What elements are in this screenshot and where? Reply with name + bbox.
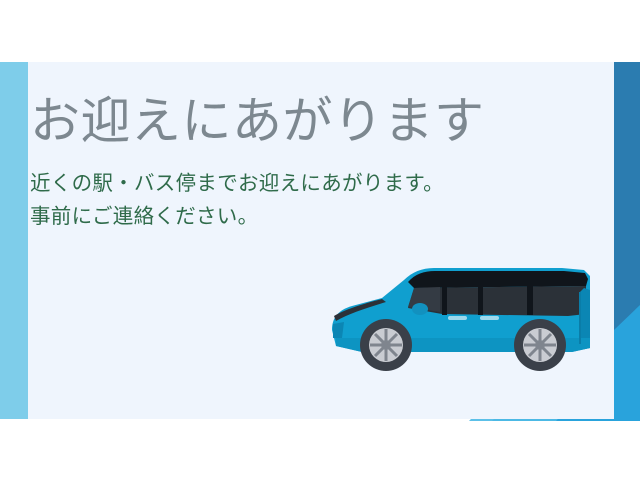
text-block: お迎えにあがります 近くの駅・バス停までお迎えにあがります。 事前にご連絡くださ… — [30, 92, 570, 233]
car-d-pillar — [527, 285, 533, 315]
car-roof — [408, 271, 588, 288]
car-c-pillar — [478, 286, 483, 315]
car-side-mirror — [412, 303, 428, 315]
car-b-pillar — [442, 286, 447, 315]
body-text: 近くの駅・バス停までお迎えにあがります。 事前にご連絡ください。 — [30, 167, 570, 233]
minivan-illustration — [322, 252, 622, 387]
car-door-handle-rear — [480, 316, 499, 320]
pickup-service-banner: お迎えにあがります 近くの駅・バス停までお迎えにあがります。 事前にご連絡くださ… — [0, 0, 640, 480]
car-rear-wheel — [514, 319, 566, 371]
body-line-1: 近くの駅・バス停までお迎えにあがります。 — [30, 167, 570, 200]
car-front-wheel — [360, 319, 412, 371]
page-title: お迎えにあがります — [30, 92, 570, 151]
body-line-2: 事前にご連絡ください。 — [30, 200, 570, 233]
car-door-handle-front — [448, 316, 467, 320]
